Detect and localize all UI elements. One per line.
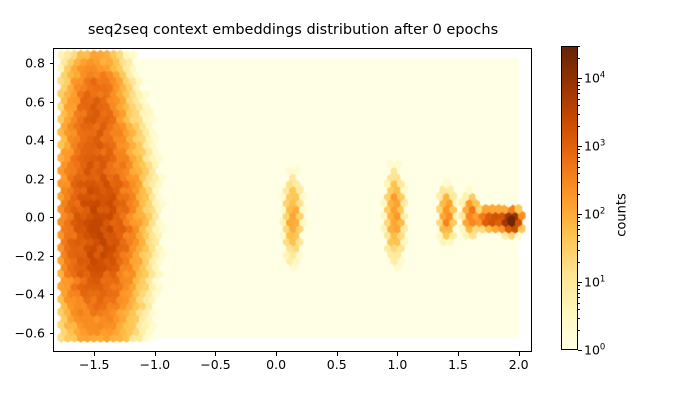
x-tick-label: 1.5 (448, 357, 468, 372)
y-tick-label: 0.8 (25, 56, 45, 71)
colorbar-minor-tick (578, 85, 580, 86)
colorbar-minor-tick (578, 167, 580, 168)
y-tick-mark (50, 102, 54, 103)
colorbar-minor-tick (578, 235, 580, 236)
y-tick-mark (50, 217, 54, 218)
colorbar-minor-tick (578, 114, 580, 115)
y-tick-label: 0.6 (25, 94, 45, 109)
x-tick-mark (155, 352, 156, 356)
colorbar-minor-tick (578, 58, 580, 59)
colorbar-gradient (562, 47, 577, 349)
colorbar-minor-tick (578, 221, 580, 222)
y-tick-label: 0.4 (25, 133, 45, 148)
colorbar-tick-label: 100 (584, 343, 605, 358)
colorbar-axis-label: counts (615, 193, 630, 236)
colorbar (561, 46, 578, 350)
colorbar-minor-tick (578, 126, 580, 127)
hexbin-data-layer (54, 49, 532, 352)
x-tick-label: 0.0 (266, 357, 286, 372)
colorbar-minor-tick (578, 303, 580, 304)
y-tick-label: −0.6 (15, 325, 45, 340)
y-tick-mark (50, 63, 54, 64)
y-tick-mark (50, 140, 54, 141)
x-tick-mark (397, 352, 398, 356)
colorbar-minor-tick (578, 285, 580, 286)
x-tick-label: 2.0 (509, 357, 529, 372)
x-tick-mark (215, 352, 216, 356)
colorbar-tick-label: 103 (584, 139, 605, 154)
colorbar-major-tick (578, 78, 582, 79)
x-tick-label: −0.5 (200, 357, 230, 372)
x-tick-mark (519, 352, 520, 356)
colorbar-minor-tick (578, 173, 580, 174)
matplotlib-figure: seq2seq context embeddings distribution … (0, 0, 700, 400)
colorbar-minor-tick (578, 153, 580, 154)
colorbar-minor-tick (578, 309, 580, 310)
colorbar-tick-label: 102 (584, 207, 605, 222)
colorbar-minor-tick (578, 241, 580, 242)
colorbar-minor-tick (578, 225, 580, 226)
colorbar-minor-tick (578, 157, 580, 158)
colorbar-minor-tick (578, 89, 580, 90)
y-tick-label: 0.0 (25, 210, 45, 225)
chart-title: seq2seq context embeddings distribution … (53, 22, 533, 38)
colorbar-minor-tick (578, 318, 580, 319)
y-tick-mark (50, 256, 54, 257)
x-tick-mark (276, 352, 277, 356)
colorbar-minor-tick (578, 93, 580, 94)
hexbin-plot-area (53, 48, 532, 352)
colorbar-minor-tick (578, 297, 580, 298)
colorbar-major-tick (578, 350, 582, 351)
colorbar-minor-tick (578, 149, 580, 150)
colorbar-minor-tick (578, 330, 580, 331)
colorbar-major-tick (578, 146, 582, 147)
y-tick-label: −0.4 (15, 287, 45, 302)
colorbar-minor-tick (578, 289, 580, 290)
colorbar-tick-label: 101 (584, 275, 605, 290)
x-tick-label: −1.0 (140, 357, 170, 372)
colorbar-minor-tick (578, 82, 580, 83)
colorbar-minor-tick (578, 250, 580, 251)
colorbar-minor-tick (578, 99, 580, 100)
colorbar-minor-tick (578, 217, 580, 218)
colorbar-minor-tick (578, 262, 580, 263)
y-tick-mark (50, 179, 54, 180)
x-tick-label: 1.0 (387, 357, 407, 372)
colorbar-minor-tick (578, 194, 580, 195)
x-tick-mark (94, 352, 95, 356)
colorbar-minor-tick (578, 105, 580, 106)
x-tick-label: 0.5 (327, 357, 347, 372)
colorbar-minor-tick (578, 293, 580, 294)
colorbar-minor-tick (578, 46, 580, 47)
colorbar-major-tick (578, 282, 582, 283)
y-tick-label: 0.2 (25, 171, 45, 186)
y-tick-label: −0.2 (15, 248, 45, 263)
y-tick-mark (50, 294, 54, 295)
x-tick-mark (458, 352, 459, 356)
x-tick-label: −1.5 (79, 357, 109, 372)
x-tick-mark (337, 352, 338, 356)
colorbar-minor-tick (578, 161, 580, 162)
colorbar-minor-tick (578, 229, 580, 230)
colorbar-minor-tick (578, 182, 580, 183)
colorbar-tick-label: 104 (584, 71, 605, 86)
colorbar-major-tick (578, 214, 582, 215)
y-tick-mark (50, 333, 54, 334)
